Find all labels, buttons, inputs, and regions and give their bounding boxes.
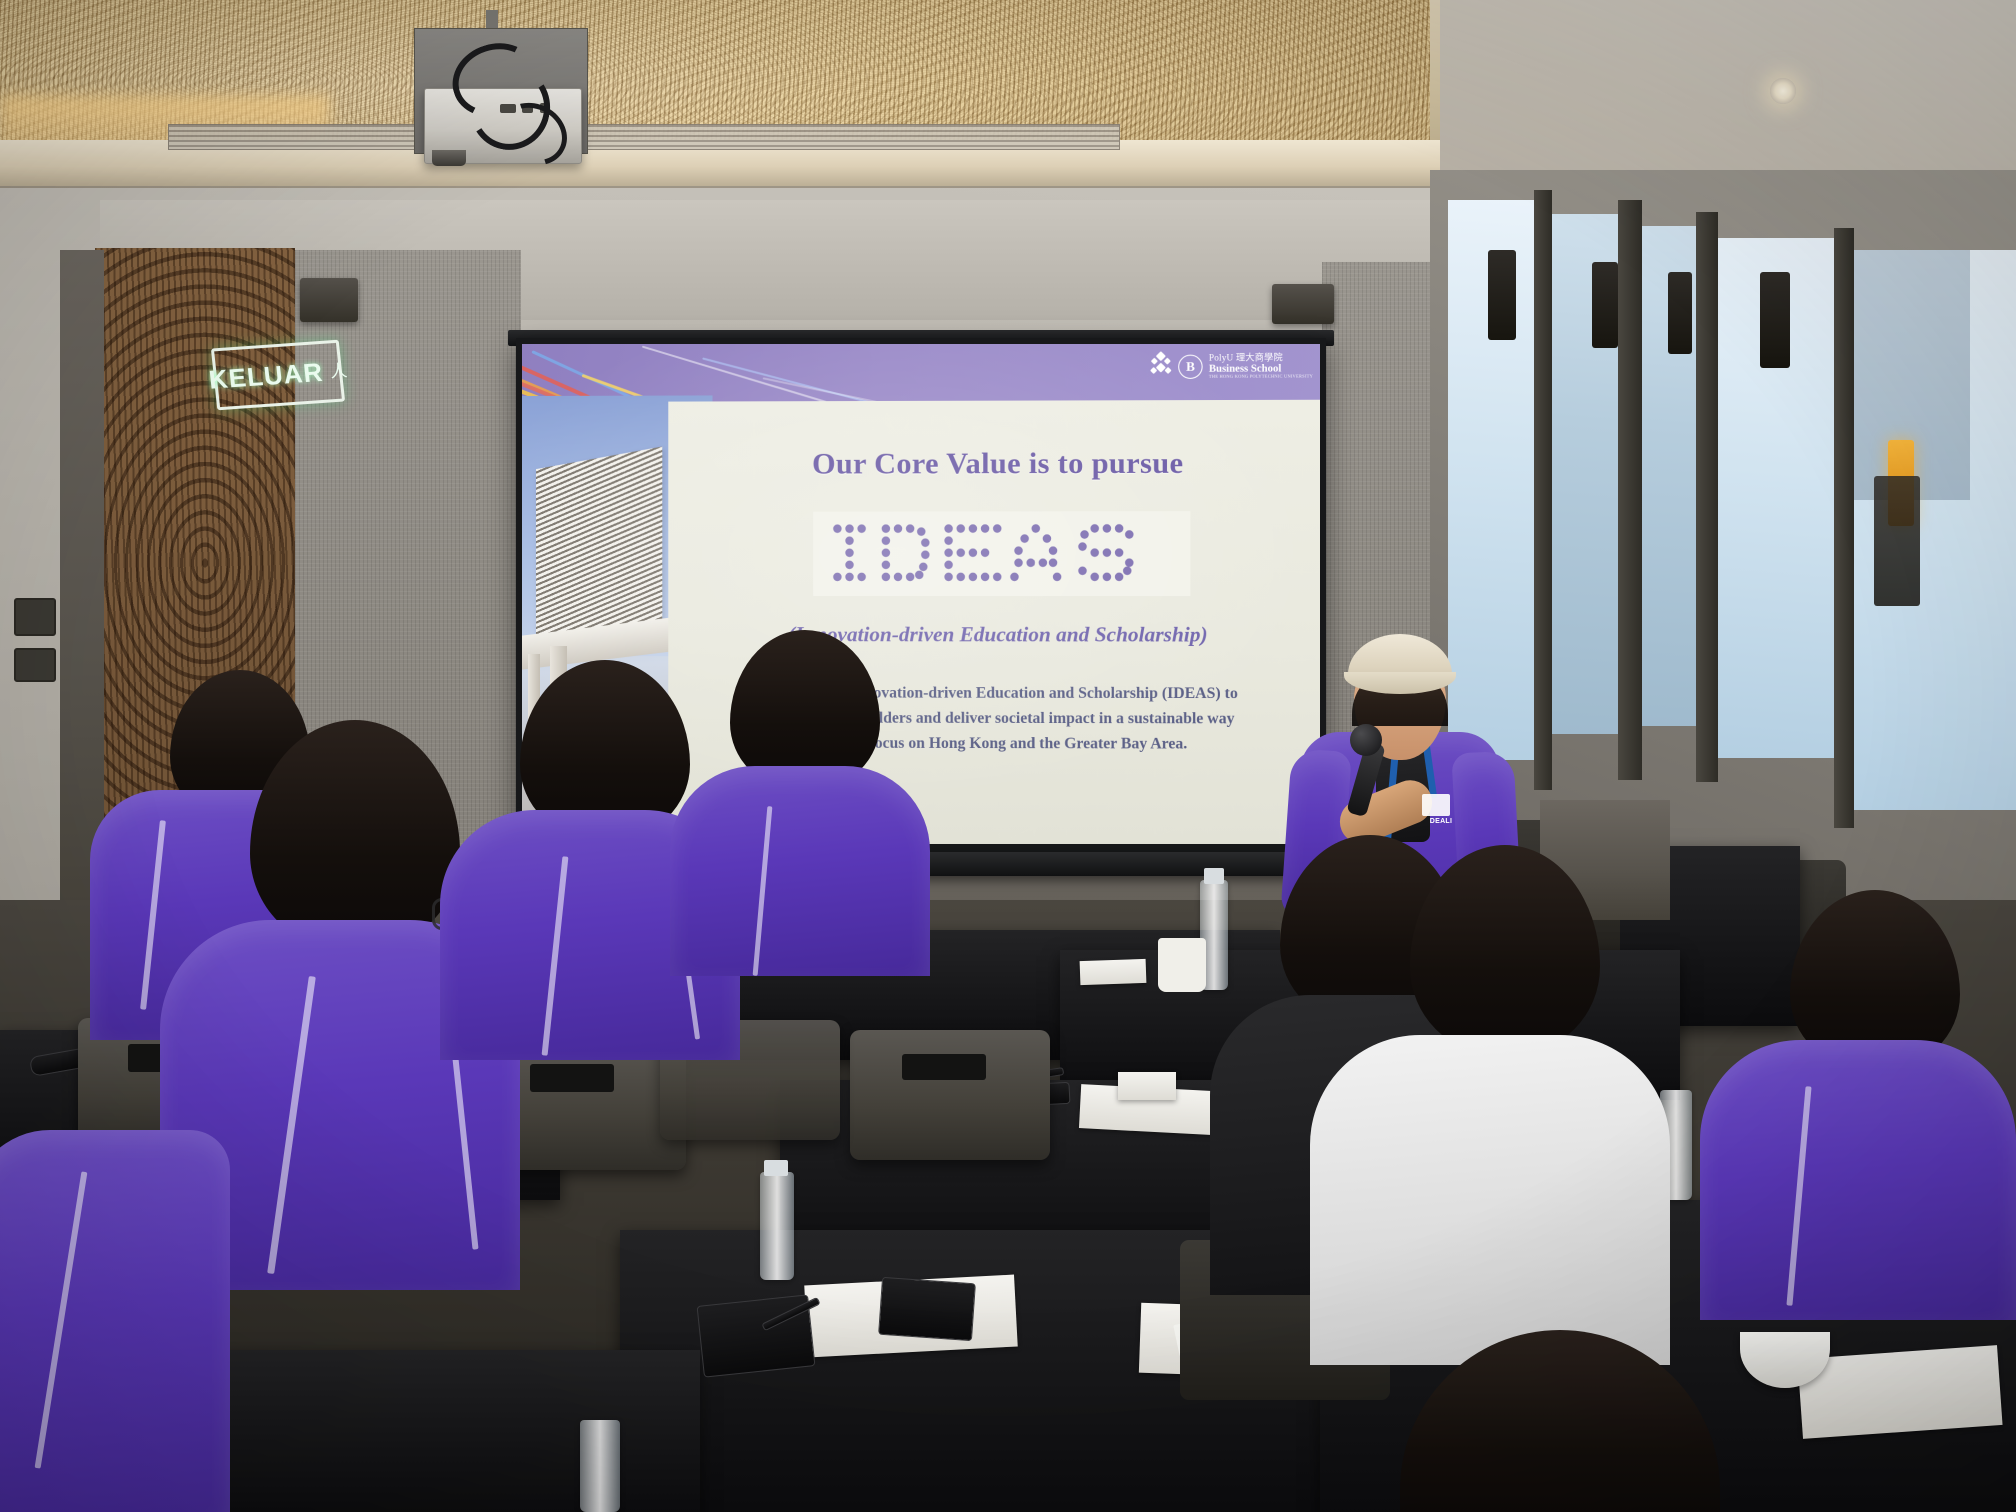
window-mullion — [1834, 228, 1854, 828]
paper-cup[interactable] — [1158, 938, 1206, 992]
name-card[interactable] — [1118, 1072, 1176, 1100]
air-vent-grille — [168, 124, 1120, 150]
exit-sign-label: KELUAR — [207, 356, 324, 395]
ideas-acronym-graphic — [813, 511, 1190, 596]
smartphone[interactable] — [878, 1277, 976, 1341]
logo-line-3: THE HONG KONG POLYTECHNIC UNIVERSITY — [1209, 374, 1313, 379]
polyu-business-school-logo: B PolyU 理大商學院 Business School THE HONG K… — [1150, 353, 1313, 379]
bottle-cap — [764, 1160, 788, 1176]
photo-building-louvers — [536, 447, 662, 650]
window-mullion — [1696, 212, 1718, 782]
conference-room-scene: KELUAR 人 — [0, 0, 2016, 1512]
exit-running-person-icon: 人 — [329, 362, 348, 380]
wall-sconce — [1874, 476, 1920, 606]
wall-outlet[interactable] — [14, 648, 56, 682]
audience-jacket — [0, 1130, 230, 1512]
audience-white-shirt — [1310, 1035, 1670, 1365]
audience-head — [1410, 845, 1600, 1055]
downlight-icon — [1770, 78, 1796, 104]
water-bottle[interactable] — [760, 1172, 794, 1280]
wall-speaker — [300, 278, 358, 322]
audience-member — [1300, 845, 1670, 1345]
polyu-diamond-icon — [1145, 351, 1177, 382]
microphone-head — [1350, 724, 1382, 756]
name-card[interactable] — [1080, 959, 1147, 985]
audience-jacket — [1700, 1040, 2016, 1320]
exit-sign: KELUAR 人 — [211, 340, 345, 411]
audience-head — [1400, 1330, 1720, 1512]
wall-sconce — [1592, 262, 1618, 348]
audience-head — [250, 720, 460, 950]
wall-outlet[interactable] — [14, 598, 56, 636]
conference-chair[interactable] — [850, 1030, 1050, 1160]
chair-handle-slot — [530, 1064, 614, 1092]
water-bottle[interactable] — [580, 1420, 620, 1512]
audience-member — [0, 1130, 230, 1512]
business-school-b-icon: B — [1178, 354, 1202, 378]
audience-member — [670, 630, 930, 960]
logo-text-block: PolyU 理大商學院 Business School THE HONG KON… — [1209, 353, 1313, 379]
slide-title: Our Core Value is to pursue — [668, 446, 1320, 481]
audience-jacket — [670, 766, 930, 976]
audience-member — [1400, 1330, 1760, 1512]
presenter-jacket-emblem — [1422, 794, 1450, 816]
wall-speaker — [1272, 284, 1334, 324]
wall-sconce — [1488, 250, 1516, 340]
wall-sconce — [1668, 272, 1692, 354]
window-mullion — [1618, 200, 1642, 780]
projector-lens — [432, 150, 466, 166]
presenter-jacket-logo: DEALI — [1406, 818, 1476, 825]
audience-member — [1700, 890, 2016, 1310]
wall-sconce — [1760, 272, 1790, 368]
window-mullion — [1534, 190, 1552, 790]
logo-line-1: PolyU 理大商學院 — [1209, 353, 1313, 363]
chair-handle-slot — [902, 1054, 986, 1080]
